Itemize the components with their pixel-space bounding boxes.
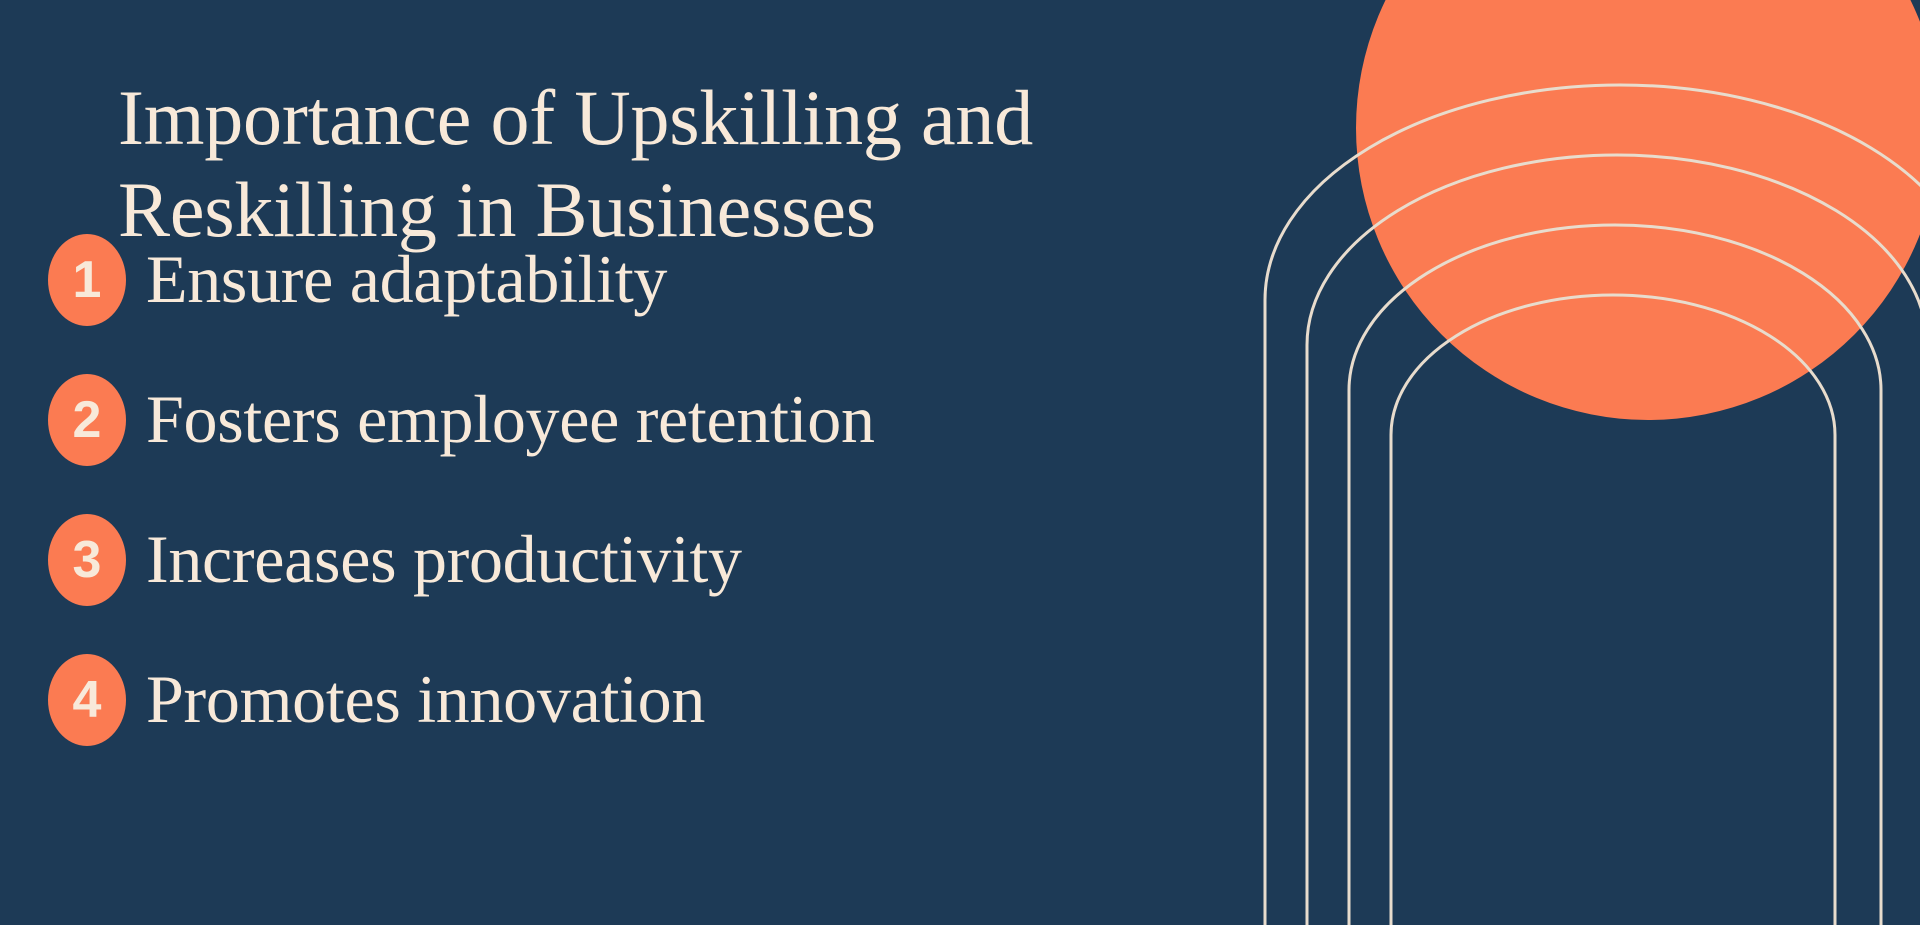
numbered-list: 1 Ensure adaptability 2 Fosters employee…	[48, 210, 1248, 770]
list-item: 4 Promotes innovation	[48, 630, 1248, 770]
list-item-number-badge: 2	[48, 374, 126, 466]
list-item-label: Increases productivity	[146, 524, 742, 595]
list-item-label: Fosters employee retention	[146, 384, 875, 455]
list-item-number-badge: 1	[48, 234, 126, 326]
list-item-label: Promotes innovation	[146, 664, 705, 735]
list-item-number-badge: 4	[48, 654, 126, 746]
slide-content: Importance of Upskilling and Reskilling …	[0, 0, 1250, 925]
decorative-arc-4	[1391, 295, 1835, 925]
decorative-arc-2	[1307, 155, 1920, 925]
list-item: 1 Ensure adaptability	[48, 210, 1248, 350]
list-item-label: Ensure adaptability	[146, 244, 667, 315]
list-item: 2 Fosters employee retention	[48, 350, 1248, 490]
list-item: 3 Increases productivity	[48, 490, 1248, 630]
list-item-number-badge: 3	[48, 514, 126, 606]
orange-circle-decoration	[1356, 0, 1920, 420]
decorative-arc-3	[1349, 225, 1881, 925]
decorative-arc-1	[1265, 85, 1920, 925]
slide-canvas: Importance of Upskilling and Reskilling …	[0, 0, 1920, 925]
